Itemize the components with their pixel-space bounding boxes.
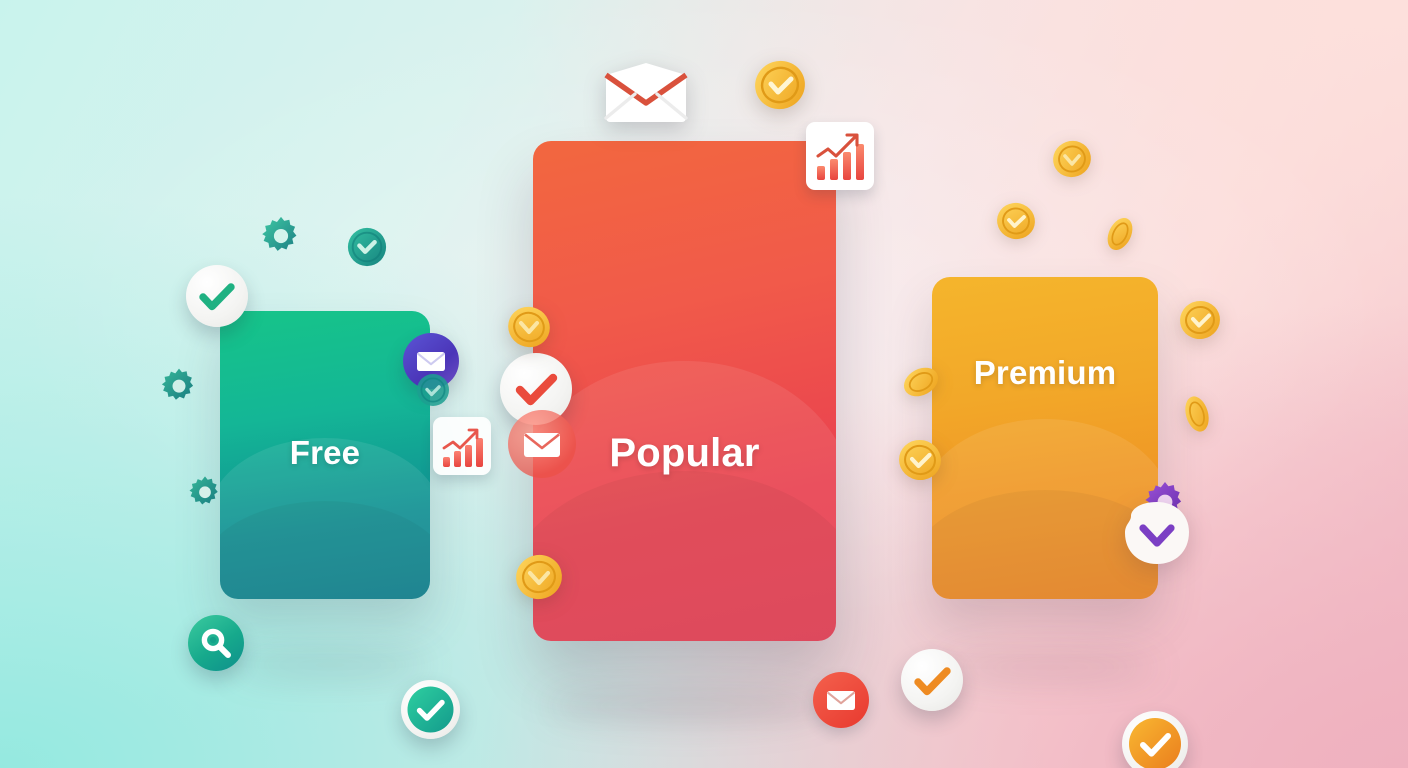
envelope-icon [601, 58, 691, 126]
gear-icon [258, 214, 304, 260]
bar-chart-icon [433, 417, 491, 475]
card-shadow-premium [944, 654, 1156, 681]
coin-blank-icon [900, 361, 942, 403]
chevron-down-badge-icon [1121, 500, 1193, 566]
coin-check-icon [346, 226, 388, 268]
search-icon [188, 615, 244, 671]
coin-check-icon [416, 373, 450, 407]
envelope-icon [508, 410, 576, 478]
card-title-popular: Popular [533, 431, 836, 476]
coin-check-icon [1177, 297, 1223, 343]
check-badge-icon [186, 265, 248, 327]
card-shadow-free [232, 652, 428, 678]
card-shadow-popular [546, 690, 826, 722]
envelope-icon [813, 672, 869, 728]
gear-icon [158, 366, 200, 408]
coin-chevron-icon [1050, 137, 1094, 181]
illustration-stage: Free Popular Premium [0, 0, 1408, 768]
coin-check-icon [994, 199, 1038, 243]
coin-check-icon [752, 57, 808, 113]
coin-check-icon [896, 436, 944, 484]
card-title-free: Free [220, 434, 430, 472]
check-badge-icon [901, 649, 963, 711]
bar-chart-icon [806, 122, 874, 190]
coin-chevron-icon [513, 551, 565, 603]
pricing-card-popular[interactable]: Popular [533, 141, 836, 641]
gear-icon [186, 474, 224, 512]
card-title-premium: Premium [932, 354, 1158, 392]
pricing-card-free[interactable]: Free [220, 311, 430, 599]
card-sheen [533, 361, 836, 641]
check-badge-icon [401, 680, 460, 739]
coin-chevron-icon [505, 303, 553, 351]
check-badge-icon [1122, 711, 1188, 768]
coin-blank-icon [1101, 215, 1139, 253]
coin-blank-icon [1177, 394, 1217, 434]
